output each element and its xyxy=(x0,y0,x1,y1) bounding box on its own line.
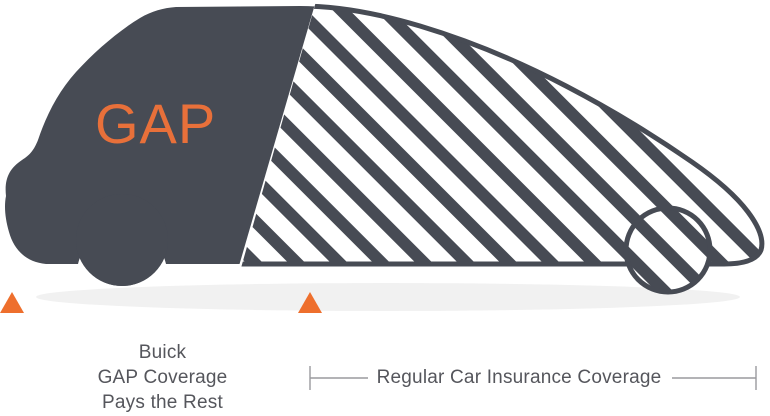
front-wheel xyxy=(76,194,168,286)
gap-coverage-caption: Buick GAP Coverage Pays the Rest xyxy=(60,340,265,415)
gap-badge-label: GAP xyxy=(95,92,216,155)
gap-coverage-infographic: GAP Buick GAP Coverage Pays the Rest Reg… xyxy=(0,0,770,416)
caption-line-1: Buick xyxy=(60,340,265,365)
ground-shadow xyxy=(36,283,740,311)
coverage-start-marker xyxy=(0,292,24,313)
caption-line-3: Pays the Rest xyxy=(60,390,265,415)
regular-coverage-caption: Regular Car Insurance Coverage xyxy=(374,366,664,390)
caption-line-2: GAP Coverage xyxy=(60,365,265,390)
